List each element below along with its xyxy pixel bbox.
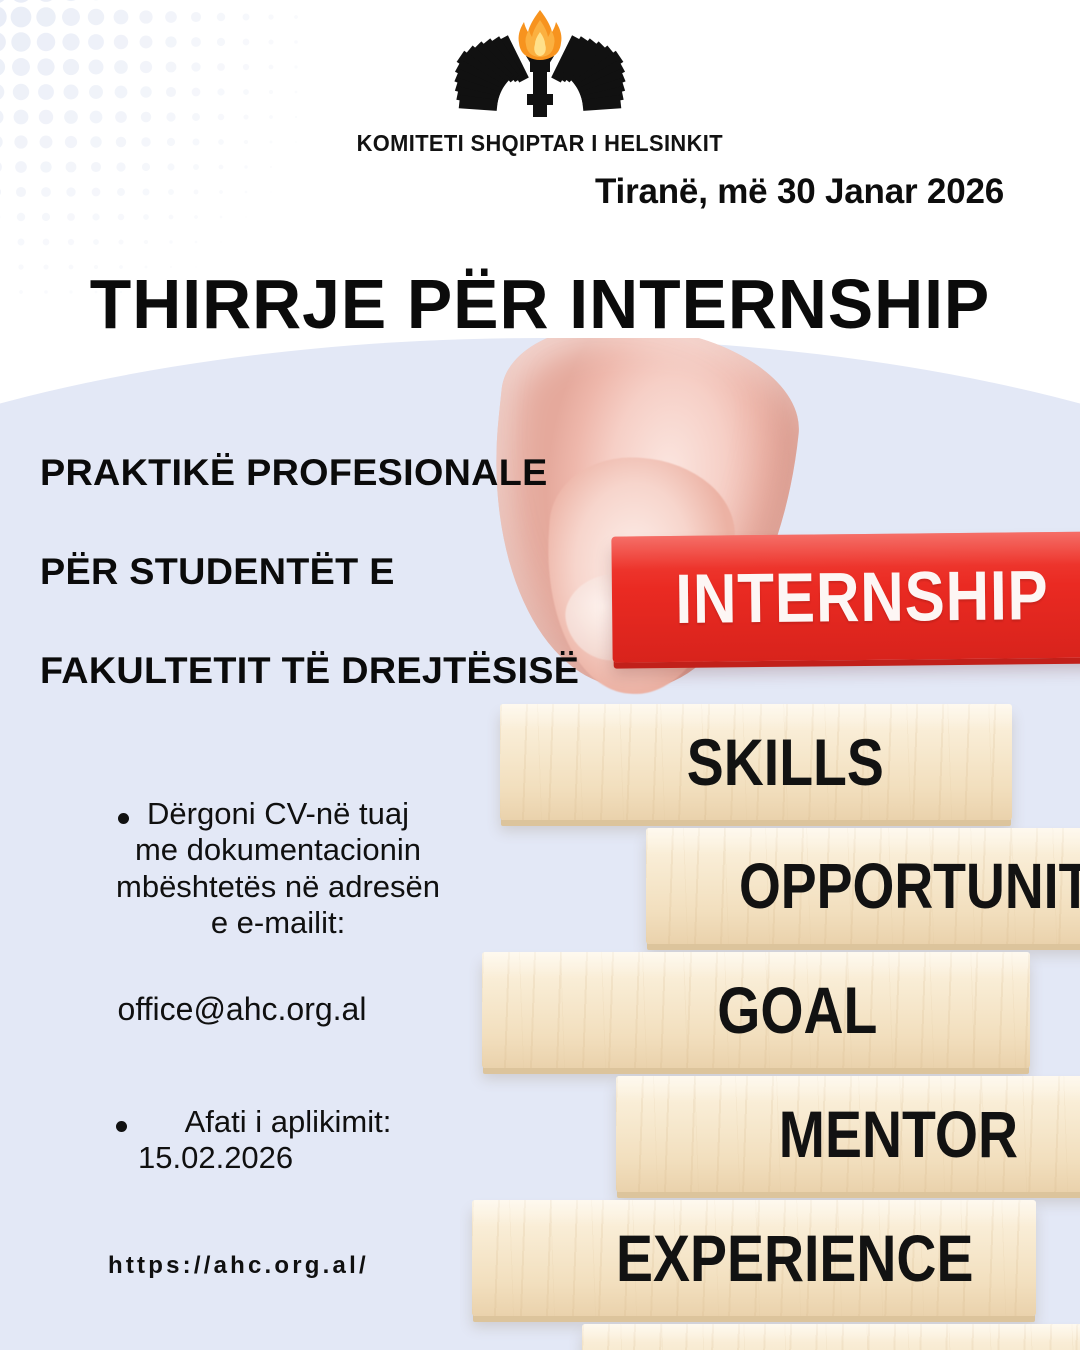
poster-content: KOMITETI SHQIPTAR I HELSINKIT Tiranë, më… — [0, 0, 1080, 1350]
subheading-line-2: PËR STUDENTËT E — [40, 551, 591, 593]
bullet-1-line-1: Dërgoni CV-në tuaj — [86, 796, 470, 832]
bullet-2-line-2: 15.02.2026 — [106, 1140, 470, 1176]
bullet-1-text: Dërgoni CV-në tuaj me dokumentacionin mb… — [40, 796, 470, 941]
organization-name: KOMITETI SHQIPTAR I HELSINKIT — [357, 130, 723, 157]
bullet-1-line-3: mbështetës në adresën — [86, 869, 470, 905]
list-item: Dërgoni CV-në tuaj me dokumentacionin mb… — [40, 796, 470, 1028]
organization-logo: KOMITETI SHQIPTAR I HELSINKIT — [0, 6, 1080, 157]
bullet-dot-icon — [118, 813, 129, 824]
contact-email[interactable]: office@ahc.org.al — [40, 991, 470, 1028]
bullet-1-line-2: me dokumentacionin — [86, 832, 470, 868]
list-item: Afati i aplikimit: 15.02.2026 — [40, 1104, 470, 1177]
poster-canvas: INTERNSHIP SKILLS OPPORTUNITY GOAL MENTO… — [0, 0, 1080, 1350]
bullet-2-line-1: Afati i aplikimit: — [106, 1104, 470, 1140]
subheading: PRAKTIKË PROFESIONALE PËR STUDENTËT E FA… — [40, 452, 580, 749]
bullet-dot-icon — [116, 1121, 127, 1132]
page-title: THIRRJE PËR INTERNSHIP — [16, 264, 1064, 344]
bullet-2-text: Afati i aplikimit: 15.02.2026 — [40, 1104, 470, 1177]
subheading-line-1: PRAKTIKË PROFESIONALE — [40, 452, 591, 494]
website-url[interactable]: https://ahc.org.al/ — [108, 1252, 369, 1280]
date-line: Tiranë, më 30 Janar 2026 — [595, 172, 1004, 212]
torch-laurel-logo-icon — [409, 6, 671, 128]
subheading-line-3: FAKULTETIT TË DREJTËSISË — [40, 650, 591, 692]
bullet-1-line-4: e e-mailit: — [86, 905, 470, 941]
bullet-list: Dërgoni CV-në tuaj me dokumentacionin mb… — [40, 796, 470, 1177]
